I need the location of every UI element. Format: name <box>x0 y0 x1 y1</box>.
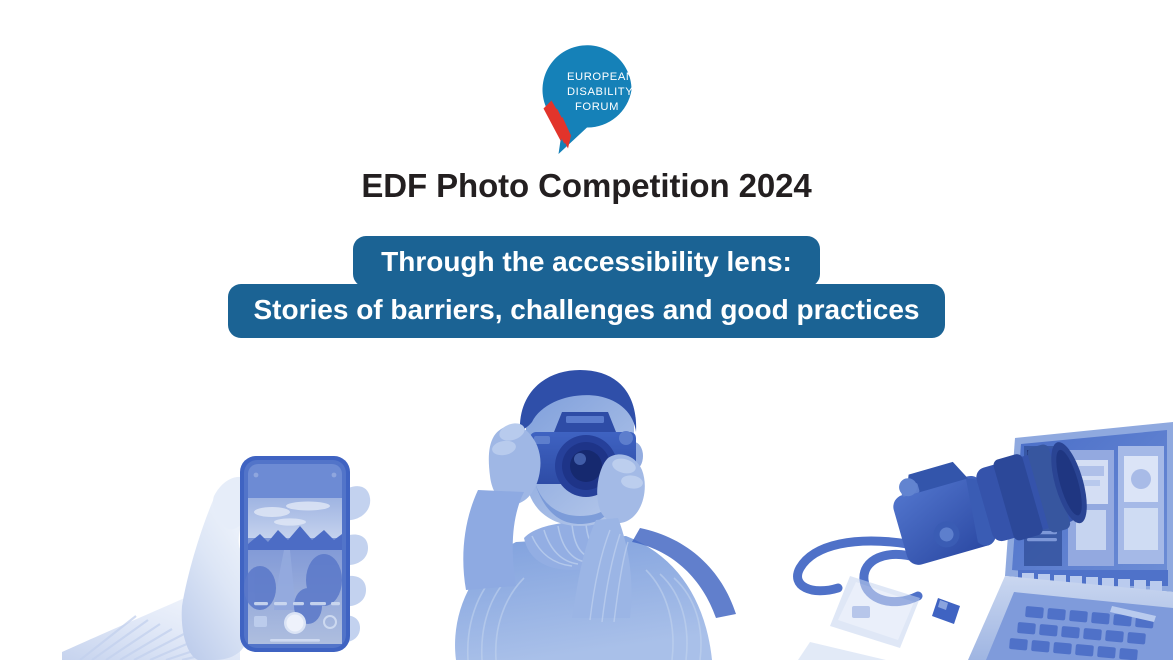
logo-line-2: DISABILITY <box>567 86 633 98</box>
photo-strip <box>0 360 1173 660</box>
european-disability-forum-logo: EUROPEAN DISABILITY FORUM <box>531 38 643 158</box>
edf-photo-competition-poster: EUROPEAN DISABILITY FORUM EDF Photo Comp… <box>0 0 1173 660</box>
subtitle-line-2: Stories of barriers, challenges and good… <box>228 284 946 338</box>
subtitle-line-1: Through the accessibility lens: <box>353 236 820 287</box>
logo-line-1: EUROPEAN <box>567 71 635 83</box>
logo-line-3: FORUM <box>575 101 619 113</box>
subtitle-banner: Through the accessibility lens: Stories … <box>0 236 1173 338</box>
photo-photographer-with-slr-camera <box>420 370 760 660</box>
logo-container: EUROPEAN DISABILITY FORUM <box>0 38 1173 158</box>
photo-dslr-camera-sd-card-and-laptop <box>790 420 1173 660</box>
page-title: EDF Photo Competition 2024 <box>0 167 1173 205</box>
photo-hand-holding-smartphone-camera <box>62 420 402 660</box>
